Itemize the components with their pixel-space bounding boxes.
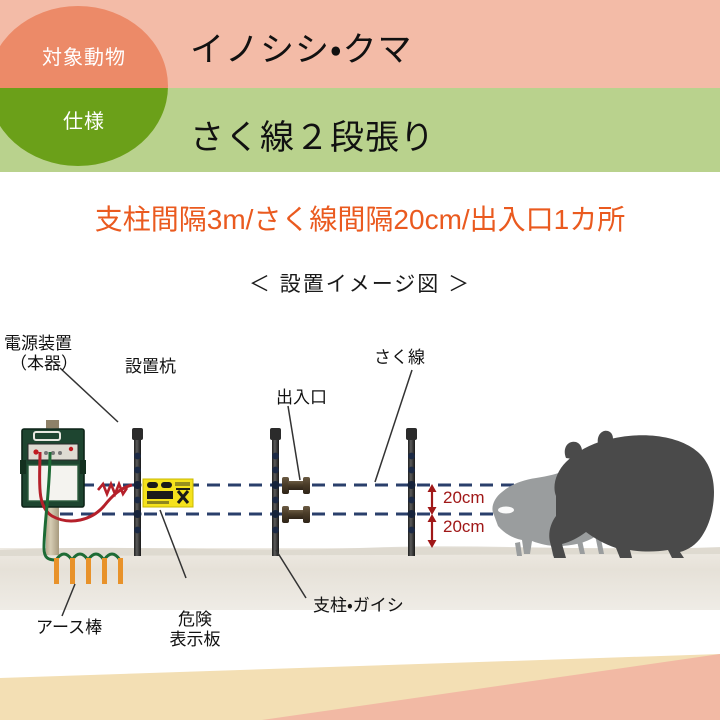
fence-post-right (406, 428, 417, 556)
label-fence-wire: さく線 (374, 348, 425, 368)
bear-silhouette (549, 431, 714, 558)
diagram-graphics (0, 310, 720, 670)
measurement-arrow-lower (428, 514, 437, 548)
header-badge-circle: 対象動物 仕様 (0, 6, 168, 166)
badge-target-animal: 対象動物 (0, 6, 168, 88)
label-danger-sign-line1: 危険 (160, 610, 230, 630)
measurement-label-lower: 20cm (443, 517, 485, 537)
diagram-caption: ＜ 設置イメージ図 ＞ (0, 268, 720, 298)
label-post-insulator: 支柱・ガイシ (313, 596, 404, 616)
label-power-unit: 電源装置 （本器） (4, 334, 78, 373)
badge-target-animal-label: 対象動物 (42, 41, 126, 70)
badge-specification: 仕様 (0, 88, 168, 166)
leader-line-power-unit (60, 368, 118, 422)
label-earth-rod: アース棒 (36, 618, 102, 638)
corner-decoration-graphics (0, 640, 720, 720)
installation-diagram: 電源装置 （本器） 設置杭 出入口 さく線 アース棒 危険 表示板 支柱・ガイシ… (0, 310, 720, 670)
fence-post-1 (132, 428, 143, 556)
label-power-unit-line1: 電源装置 (4, 334, 78, 354)
product-spec-card: 対象動物 仕様 イノシシ・クマ さく線２段張り 支柱間隔3m/さく線間隔20cm… (0, 0, 720, 720)
measurement-arrow-upper (428, 484, 437, 515)
label-install-post: 設置杭 (125, 357, 176, 377)
label-gate: 出入口 (276, 388, 327, 408)
measurement-label-upper: 20cm (443, 488, 485, 508)
target-animal-value: イノシシ・クマ (190, 22, 413, 71)
gate-post-left (270, 428, 281, 556)
gate-handle-lower (282, 506, 310, 523)
corner-decoration (0, 640, 720, 720)
wood-post-cap (46, 420, 59, 428)
label-power-unit-line2: （本器） (4, 354, 78, 374)
leader-line-fence-wire (375, 370, 412, 482)
danger-sign-board (143, 479, 193, 507)
gate-handle-upper (282, 477, 310, 494)
badge-specification-label: 仕様 (63, 105, 105, 134)
leader-line-gate (288, 406, 300, 480)
spec-detail-line: 支柱間隔3m/さく線間隔20cm/出入口1カ所 (0, 198, 720, 238)
specification-value: さく線２段張り (190, 110, 435, 159)
power-unit-device (20, 429, 86, 507)
